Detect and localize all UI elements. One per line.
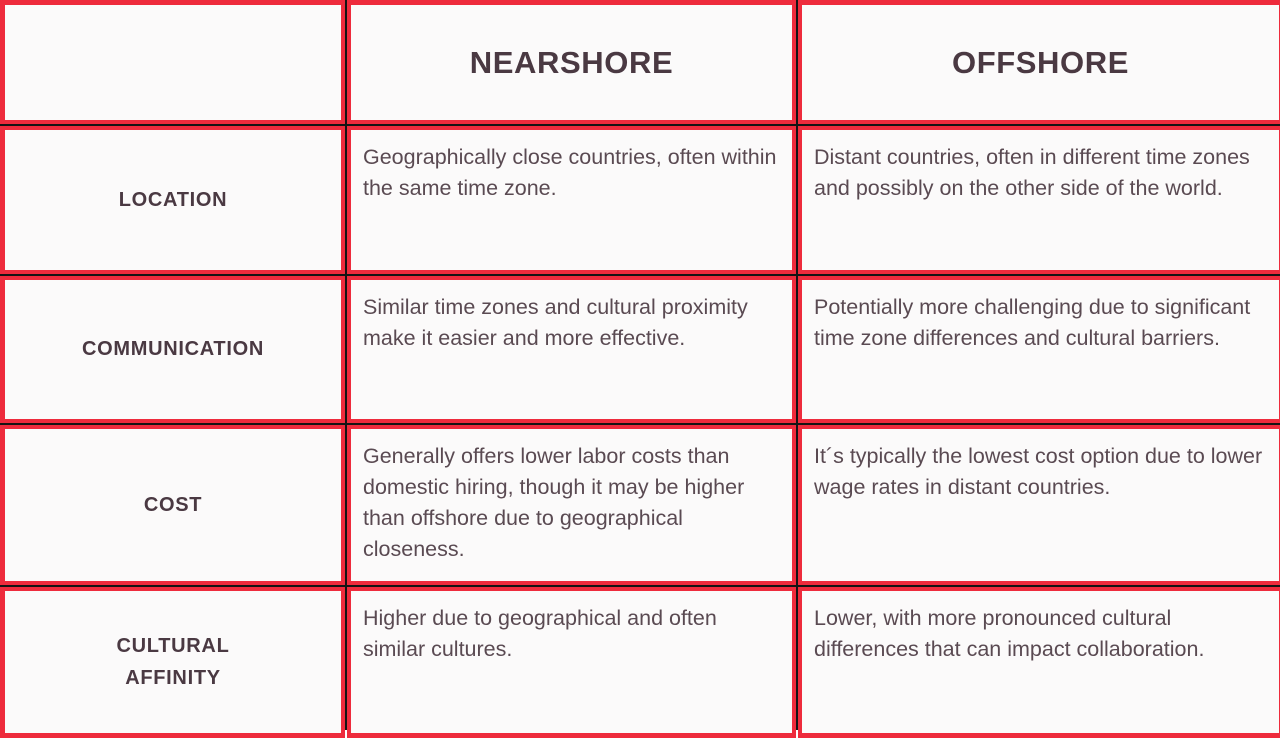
row-label-cost: COST <box>0 425 345 585</box>
cell-location-offshore: Distant countries, often in different ti… <box>798 126 1280 274</box>
row-label-cultural-affinity-text: CULTURAL AFFINITY <box>117 630 230 695</box>
column-header-offshore-label: OFFSHORE <box>952 44 1129 81</box>
row-label-location-text: LOCATION <box>119 184 228 216</box>
cell-location-nearshore-text: Geographically close countries, often wi… <box>363 145 777 200</box>
comparison-table: NEARSHORE OFFSHORE LOCATION Geographical… <box>0 0 1280 730</box>
cell-communication-offshore-text: Potentially more challenging due to sign… <box>814 295 1250 350</box>
row-label-location: LOCATION <box>0 126 345 274</box>
cell-cost-offshore-text: It´s typically the lowest cost option du… <box>814 444 1262 499</box>
row-label-cultural-affinity: CULTURAL AFFINITY <box>0 587 345 738</box>
table-corner-cell <box>0 0 345 124</box>
column-header-nearshore: NEARSHORE <box>347 0 796 124</box>
cell-cultural-affinity-nearshore: Higher due to geographical and often sim… <box>347 587 796 738</box>
cell-communication-nearshore: Similar time zones and cultural proximit… <box>347 276 796 423</box>
cell-location-offshore-text: Distant countries, often in different ti… <box>814 145 1250 200</box>
cell-cost-nearshore: Generally offers lower labor costs than … <box>347 425 796 585</box>
column-header-nearshore-label: NEARSHORE <box>470 44 673 81</box>
row-label-communication-text: COMMUNICATION <box>82 333 264 365</box>
row-label-communication: COMMUNICATION <box>0 276 345 423</box>
row-label-cost-text: COST <box>144 489 202 521</box>
cell-communication-nearshore-text: Similar time zones and cultural proximit… <box>363 295 748 350</box>
cell-location-nearshore: Geographically close countries, often wi… <box>347 126 796 274</box>
cell-communication-offshore: Potentially more challenging due to sign… <box>798 276 1280 423</box>
cell-cost-nearshore-text: Generally offers lower labor costs than … <box>363 444 744 561</box>
cell-cultural-affinity-offshore-text: Lower, with more pronounced cultural dif… <box>814 606 1204 661</box>
cell-cultural-affinity-offshore: Lower, with more pronounced cultural dif… <box>798 587 1280 738</box>
column-header-offshore: OFFSHORE <box>798 0 1280 124</box>
cell-cultural-affinity-nearshore-text: Higher due to geographical and often sim… <box>363 606 717 661</box>
cell-cost-offshore: It´s typically the lowest cost option du… <box>798 425 1280 585</box>
